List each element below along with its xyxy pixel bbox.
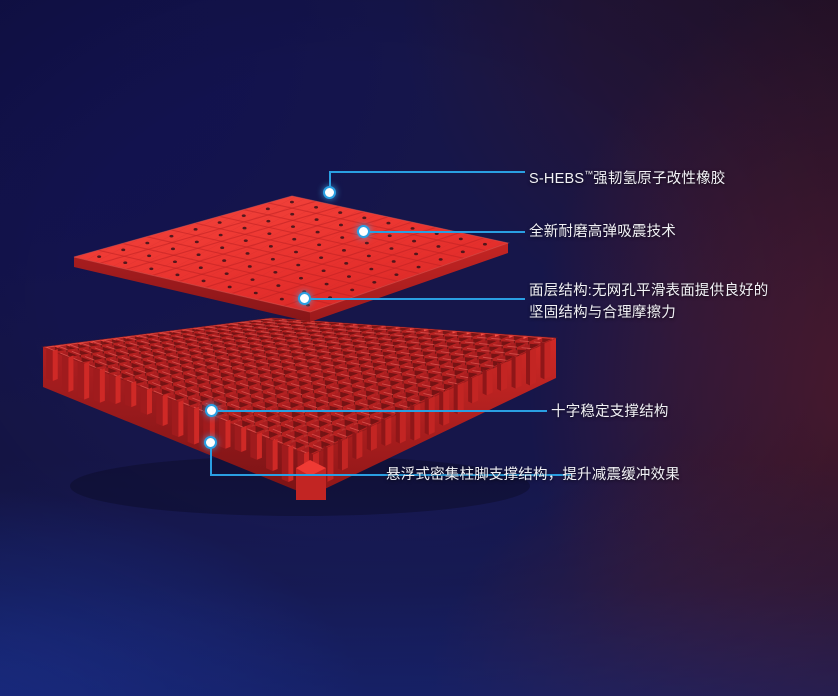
- infographic-canvas: S-HEBS™强韧氢原子改性橡胶 全新耐磨高弹吸震技术 面层结构:无网孔平滑表面…: [0, 0, 838, 696]
- callout-dot-surface-structure[interactable]: [298, 292, 311, 305]
- callout-dot-suspended-legs[interactable]: [204, 436, 217, 449]
- callout-label-surface-structure: 面层结构:无网孔平滑表面提供良好的 坚固结构与合理摩擦力: [529, 280, 768, 324]
- callout-text-shebs-cn: 强韧氢原子改性橡胶: [593, 171, 725, 187]
- callout-label-suspended-legs: 悬浮式密集柱脚支撑结构，提升减震缓冲效果: [386, 464, 680, 486]
- top-surface-panel: [74, 196, 508, 322]
- callout-label-cross-support: 十字稳定支撑结构: [551, 401, 669, 423]
- callout-label-wear-tech: 全新耐磨高弹吸震技术: [529, 221, 676, 243]
- callout-label-surface-rubber: S-HEBS™强韧氢原子改性橡胶: [529, 163, 725, 190]
- callout-dot-surface-rubber[interactable]: [323, 186, 336, 199]
- callout-dot-cross-support[interactable]: [205, 404, 218, 417]
- callout-dot-wear-tech[interactable]: [357, 225, 370, 238]
- title-block: 悬浮地板 TPES强分子弹性体材料: [0, 515, 838, 655]
- callout-text-shebs: S-HEBS: [529, 171, 584, 187]
- trademark-symbol: ™: [584, 169, 593, 179]
